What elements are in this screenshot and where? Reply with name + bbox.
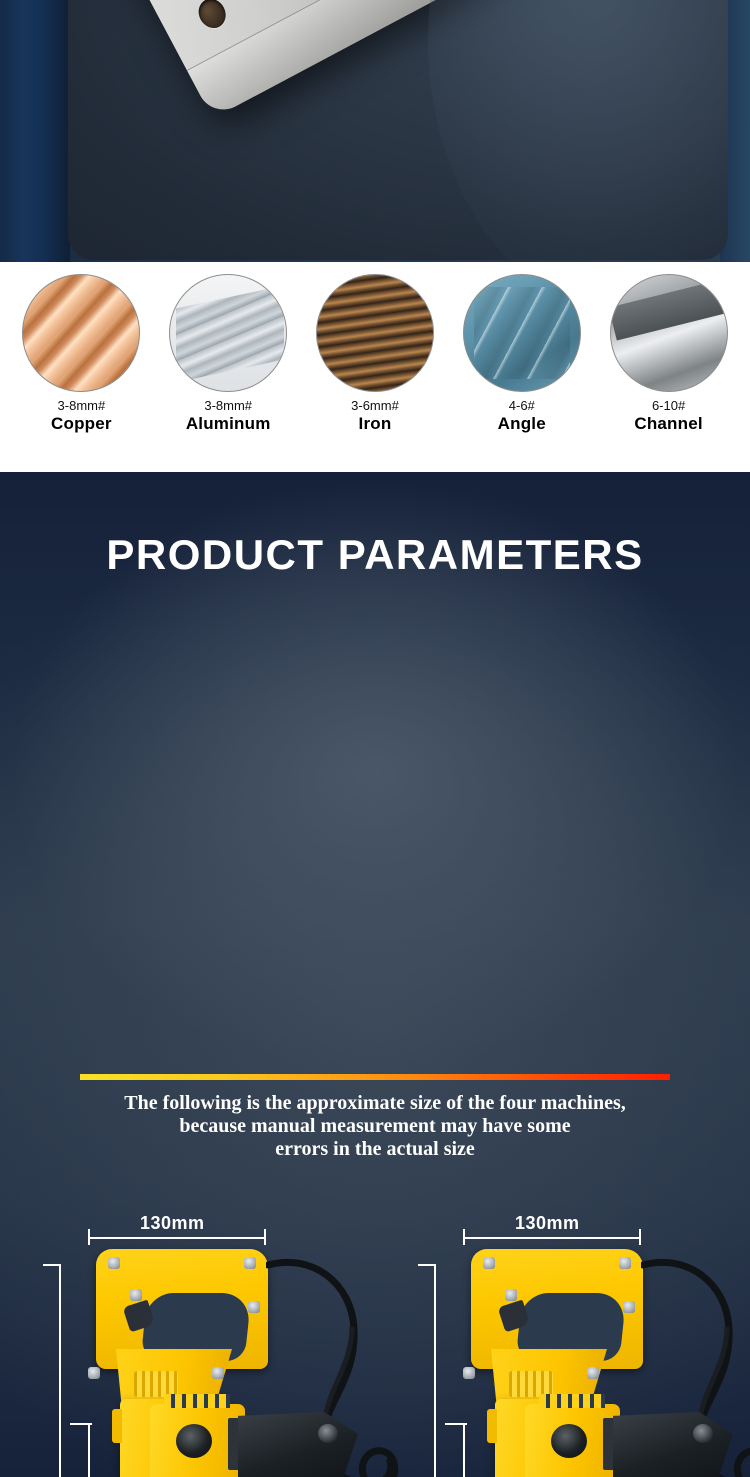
photo-backdrop-card xyxy=(68,0,728,260)
subtitle-line-2: because manual measurement may have some xyxy=(55,1115,695,1138)
next-machines-row xyxy=(0,1380,750,1477)
materials-strip: 3-8mm# Copper 3-8mm# Aluminum 3-6mm# Iro… xyxy=(0,262,750,472)
bolt-icon xyxy=(623,1301,635,1313)
materials-row: 3-8mm# Copper 3-8mm# Aluminum 3-6mm# Iro… xyxy=(0,262,750,434)
pressure-dial-icon xyxy=(551,1424,587,1458)
material-item: 6-10# Channel xyxy=(599,274,739,434)
title-divider xyxy=(80,1074,670,1080)
material-name: Iron xyxy=(305,414,445,434)
width-dimension-label: 130mm xyxy=(140,1213,205,1234)
subtitle-line-3: errors in the actual size xyxy=(55,1138,695,1161)
material-item: 3-6mm# Iron xyxy=(305,274,445,434)
angle-steel-icon xyxy=(463,274,581,392)
material-name: Copper xyxy=(11,414,151,434)
bolt-icon xyxy=(130,1289,142,1301)
material-spec: 3-8mm# xyxy=(11,398,151,414)
height-dimension-line xyxy=(88,1424,90,1477)
width-tick-right xyxy=(639,1229,641,1245)
bolt-icon xyxy=(212,1367,224,1379)
vent-icon xyxy=(539,1394,605,1408)
bolt-icon xyxy=(483,1257,495,1269)
height-dimension-line xyxy=(463,1424,465,1477)
bolt-icon xyxy=(244,1257,256,1269)
bolt-icon xyxy=(248,1301,260,1313)
material-item: 3-8mm# Copper xyxy=(11,274,151,434)
material-spec: 3-6mm# xyxy=(305,398,445,414)
housing-rim xyxy=(187,0,584,119)
punch-arm xyxy=(613,1412,733,1477)
photo-left-edge xyxy=(0,0,70,262)
aluminum-housing-image xyxy=(68,0,583,119)
channel-steel-icon xyxy=(610,274,728,392)
arm-hole xyxy=(318,1424,338,1443)
section-subtitle: The following is the approximate size of… xyxy=(55,1092,695,1161)
width-tick-right xyxy=(264,1229,266,1245)
material-name: Angle xyxy=(452,414,592,434)
bolt-icon xyxy=(619,1257,631,1269)
material-name: Channel xyxy=(599,414,739,434)
bolt-icon xyxy=(587,1367,599,1379)
pressure-dial-icon xyxy=(176,1424,212,1458)
machine-card-partial xyxy=(0,1380,375,1477)
material-item: 4-6# Angle xyxy=(452,274,592,434)
bolt-icon xyxy=(463,1367,475,1379)
product-detail-page: 3-8mm# Copper 3-8mm# Aluminum 3-6mm# Iro… xyxy=(0,0,750,1477)
material-spec: 3-8mm# xyxy=(158,398,298,414)
punch-arm xyxy=(238,1412,358,1477)
iron-bars-icon xyxy=(316,274,434,392)
subtitle-line-1: The following is the approximate size of… xyxy=(55,1092,695,1115)
width-tick-left xyxy=(463,1229,465,1245)
width-dimension-label: 130mm xyxy=(515,1213,580,1234)
section-title: PRODUCT PARAMETERS xyxy=(0,531,750,579)
vent-icon xyxy=(164,1394,230,1408)
housing-port-hole xyxy=(194,0,231,33)
hero-product-photo xyxy=(0,0,750,262)
bolt-icon xyxy=(505,1289,517,1301)
aluminum-bars-icon xyxy=(169,274,287,392)
material-spec: 6-10# xyxy=(599,398,739,414)
width-dimension-line xyxy=(463,1237,641,1239)
material-item: 3-8mm# Aluminum xyxy=(158,274,298,434)
material-name: Aluminum xyxy=(158,414,298,434)
product-parameters-section: PRODUCT PARAMETERS The following is the … xyxy=(0,472,750,1477)
material-spec: 4-6# xyxy=(452,398,592,414)
width-dimension-line xyxy=(88,1237,266,1239)
bolt-icon xyxy=(108,1257,120,1269)
width-tick-left xyxy=(88,1229,90,1245)
arm-hole xyxy=(693,1424,713,1443)
copper-bars-icon xyxy=(22,274,140,392)
bolt-icon xyxy=(88,1367,100,1379)
machine-card-partial xyxy=(375,1380,750,1477)
